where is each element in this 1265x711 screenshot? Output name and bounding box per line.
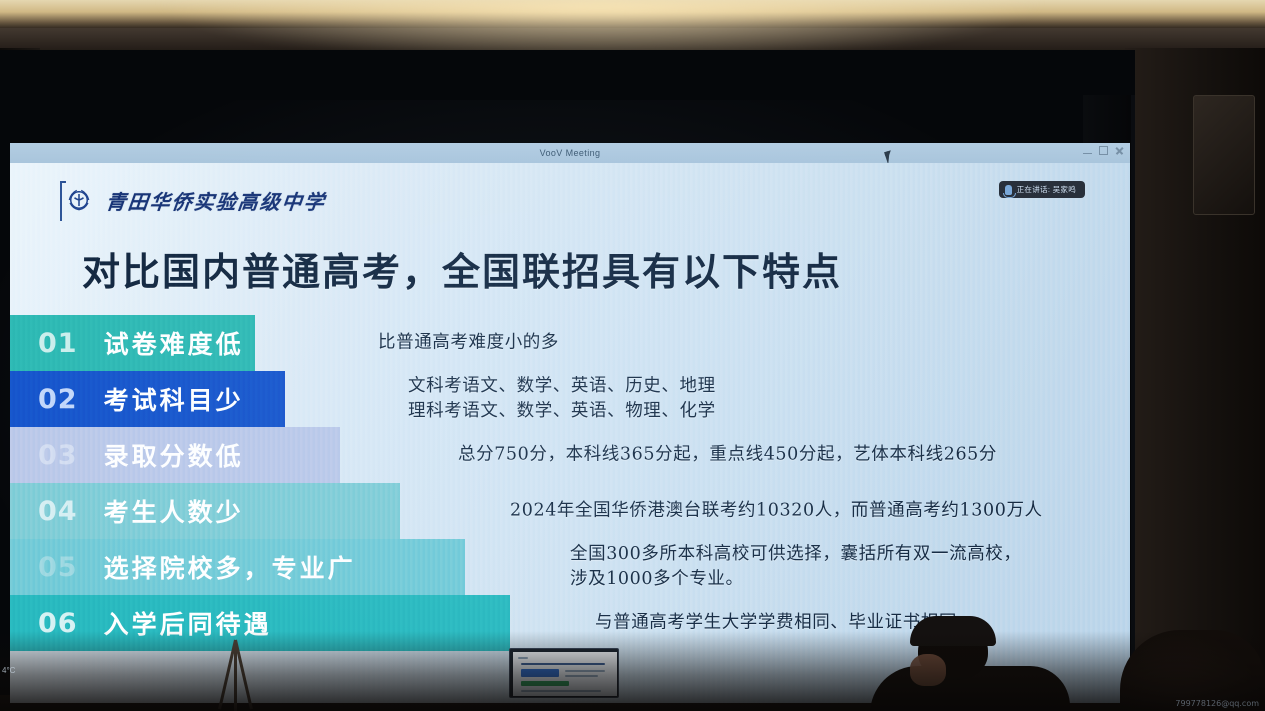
laptop-display-content [513,652,617,696]
speaking-indicator-label: 正在讲话: 吴家鸣 [1017,184,1076,195]
school-header: 青田华侨实验高级中学 [64,185,326,215]
feature-row-description-line: 总分750分，本科线365分起，重点线450分起，艺体本科线265分 [458,443,997,468]
laptop-screen [509,648,619,698]
feature-row-description-line: 涉及1000多个专业。 [570,567,1022,592]
feature-row-number: 03 [38,440,78,471]
minimize-icon[interactable] [1083,148,1092,154]
feature-row-description-line: 文科考语文、数学、英语、历史、地理 [408,374,716,399]
feature-row: 02考试科目少文科考语文、数学、英语、历史、地理理科考语文、数学、英语、物理、化… [10,371,1130,427]
school-name-label: 青田华侨实验高级中学 [104,186,327,215]
person-silhouette [860,610,1090,711]
feature-row-description: 全国300多所本科高校可供选择，囊括所有双一流高校，涉及1000多个专业。 [570,542,1022,592]
wall-speaker [1193,95,1255,215]
feature-row: 03录取分数低总分750分，本科线365分起，重点线450分起，艺体本科线265… [10,427,1130,483]
speaking-indicator: 正在讲话: 吴家鸣 [999,181,1085,198]
feature-row-label: 入学后同待遇 [104,605,272,641]
feature-row-description: 文科考语文、数学、英语、历史、地理理科考语文、数学、英语、物理、化学 [408,374,716,424]
microphone-icon [1005,185,1012,195]
close-icon[interactable] [1115,146,1124,155]
feature-row-bar: 05选择院校多，专业广 [10,539,465,595]
feature-row: 04考生人数少2024年全国华侨港澳台联考约10320人，而普通高考约1300万… [10,483,1130,539]
feature-row-label: 考生人数少 [104,493,244,529]
tripod-stand [190,640,280,711]
feature-row: 01试卷难度低比普通高考难度小的多 [10,315,1130,371]
feature-row-number: 05 [38,552,78,583]
feature-row-label: 选择院校多，专业广 [104,549,356,585]
slide-title: 对比国内普通高考，全国联招具有以下特点 [82,241,842,296]
feature-list: 01试卷难度低比普通高考难度小的多02考试科目少文科考语文、数学、英语、历史、地… [10,315,1130,651]
feature-row-description-line: 理科考语文、数学、英语、物理、化学 [408,399,716,424]
feature-row-description: 总分750分，本科线365分起，重点线450分起，艺体本科线265分 [458,443,997,468]
feature-row-number: 04 [38,496,78,527]
feature-row-description-line: 2024年全国华侨港澳台联考约10320人，而普通高考约1300万人 [510,499,1043,524]
feature-row-bar: 02考试科目少 [10,371,285,427]
temperature-badge: 4°C [2,666,15,675]
feature-row: 05选择院校多，专业广全国300多所本科高校可供选择，囊括所有双一流高校，涉及1… [10,539,1130,595]
feature-row-bar: 04考生人数少 [10,483,400,539]
window-controls[interactable] [1083,146,1124,155]
large-display-panel: 20.1 ℃ 湿度 29.8 ℃ 温度 ⏻ VooV Meeting 正在讲话:… [0,50,1135,695]
photo-watermark: 799778126@qq.com [1175,699,1259,708]
maximize-icon[interactable] [1099,146,1108,155]
feature-row-bar: 01试卷难度低 [10,315,255,371]
feature-row-number: 02 [38,384,78,415]
feature-row-bar: 03录取分数低 [10,427,340,483]
feature-row-label: 录取分数低 [104,437,244,473]
feature-row-description: 比普通高考难度小的多 [378,331,559,356]
window-title: VooV Meeting [540,148,601,158]
feature-row-number: 06 [38,608,78,639]
feature-row-description: 2024年全国华侨港澳台联考约10320人，而普通高考约1300万人 [510,499,1043,524]
feature-row-description-line: 比普通高考难度小的多 [378,331,559,356]
feature-row-label: 试卷难度低 [104,325,244,361]
feature-row-label: 考试科目少 [104,381,244,417]
feature-row-number: 01 [38,328,78,359]
window-title-bar[interactable]: VooV Meeting [10,143,1130,163]
feature-row-description-line: 全国300多所本科高校可供选择，囊括所有双一流高校， [570,542,1022,567]
school-crest-icon [64,185,94,215]
display-bezel-top [0,50,1135,95]
